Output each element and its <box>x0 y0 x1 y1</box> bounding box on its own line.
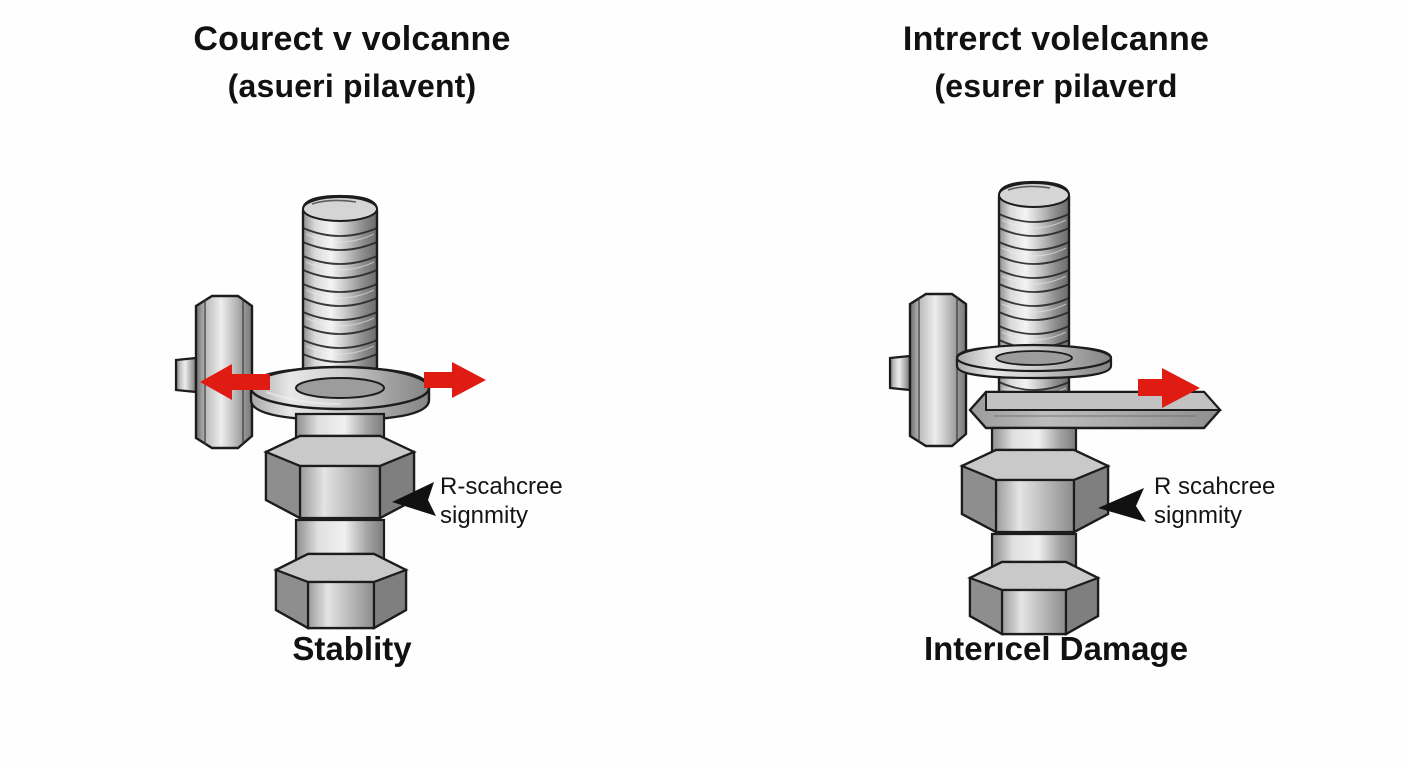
round-flange-washer <box>251 367 429 420</box>
panel-right-annotation-line2: signmity <box>1154 501 1275 530</box>
side-disc-washer <box>890 294 966 446</box>
side-disc-washer <box>176 296 252 448</box>
threaded-bolt-shank <box>999 182 1069 418</box>
panel-right-annotation-line1: R scahcree <box>1154 472 1275 501</box>
panel-correct: Courect v volcanne (asueri pilavent) <box>0 0 704 768</box>
panel-right-caption: Interıcel Damage <box>704 630 1408 668</box>
panel-right-annotation: R scahcree signmity <box>1154 472 1275 531</box>
upper-hex-nut <box>962 450 1108 532</box>
lower-hex-nut <box>970 562 1098 634</box>
deformed-flat-plate <box>970 392 1220 428</box>
arrow-right-icon <box>424 362 486 398</box>
lower-hex-nut <box>276 554 406 628</box>
panel-incorrect: Intrerct volelcanne (esurer pilaverd <box>704 0 1408 768</box>
panel-left-caption: Stablity <box>0 630 704 668</box>
panel-left-annotation-line2: signmity <box>440 501 563 530</box>
thin-flange-washer <box>957 345 1111 378</box>
threaded-bolt-shank <box>303 196 377 392</box>
panel-left-annotation-line1: R-scahcree <box>440 472 563 501</box>
comparison-diagram: Courect v volcanne (asueri pilavent) <box>0 0 1408 768</box>
upper-hex-nut <box>266 436 414 518</box>
panel-left-annotation: R-scahcree signmity <box>440 472 563 531</box>
